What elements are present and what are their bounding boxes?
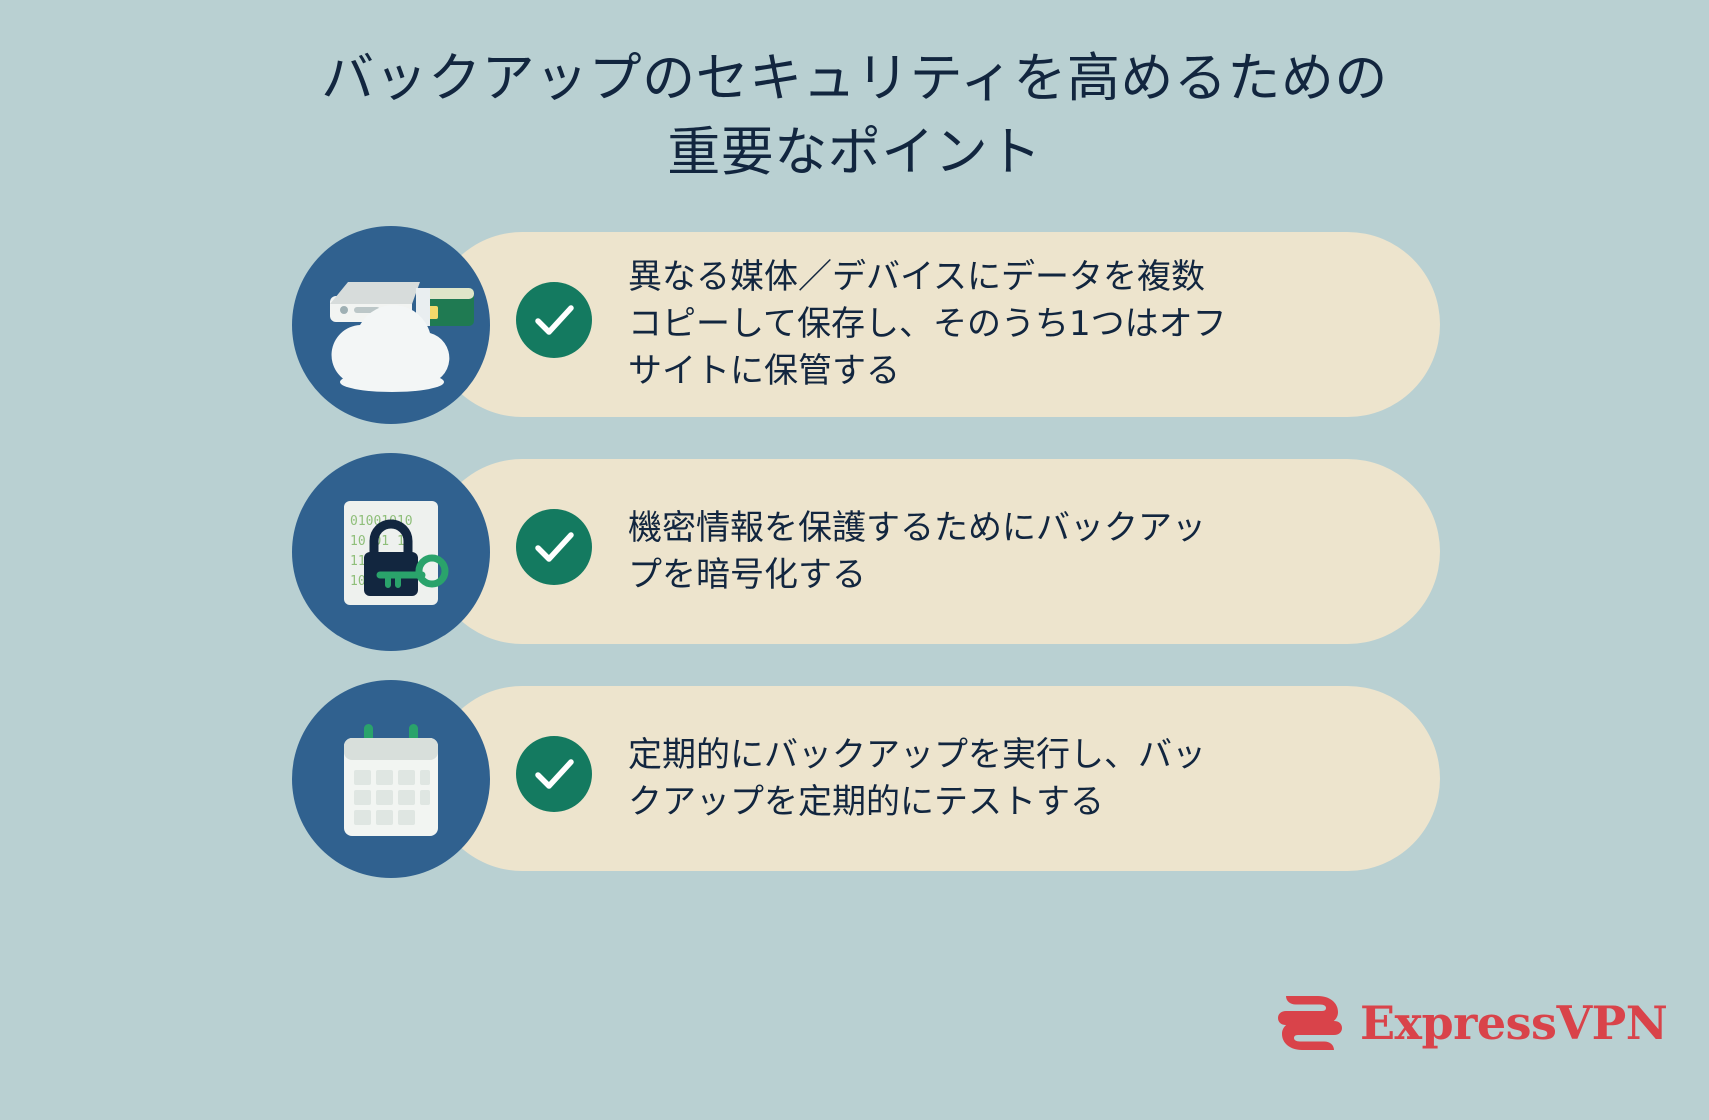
check-icon xyxy=(516,736,592,812)
tip-text-1-line-3: サイトに保管する xyxy=(628,348,1308,395)
encryption-lock-key-icon: 01001010 10 01 11 1101 010 10 10101 xyxy=(292,453,490,651)
check-icon xyxy=(516,282,592,358)
tip-text-1-line-2: コピーして保存し、そのうち1つはオフ xyxy=(628,301,1308,348)
tip-text-3-line-1: 定期的にバックアップを実行し、バッ xyxy=(628,732,1308,779)
tip-text-2-line-1: 機密情報を保護するためにバックアッ xyxy=(628,505,1308,552)
tip-text-1-line-1: 異なる媒体／デバイスにデータを複数 xyxy=(628,254,1308,301)
check-icon xyxy=(516,509,592,585)
tips-list: 異なる媒体／デバイスにデータを複数 コピーして保存し、そのうち1つはオフ サイト… xyxy=(0,232,1709,913)
list-item: 異なる媒体／デバイスにデータを複数 コピーして保存し、そのうち1つはオフ サイト… xyxy=(0,232,1709,417)
calendar-schedule-icon xyxy=(292,680,490,878)
infographic-page: バックアップのセキュリティを高めるための 重要なポイント xyxy=(0,0,1709,1120)
tip-text-1: 異なる媒体／デバイスにデータを複数 コピーして保存し、そのうち1つはオフ サイト… xyxy=(628,232,1308,417)
tip-text-3-line-2: クアップを定期的にテストする xyxy=(628,779,1308,826)
page-title-line-1: バックアップのセキュリティを高めるための xyxy=(0,42,1709,116)
page-title: バックアップのセキュリティを高めるための 重要なポイント xyxy=(0,42,1709,190)
expressvpn-mark-icon xyxy=(1278,992,1342,1054)
tip-text-3: 定期的にバックアップを実行し、バッ クアップを定期的にテストする xyxy=(628,686,1308,871)
tip-text-2-line-2: プを暗号化する xyxy=(628,552,1308,599)
list-item: 定期的にバックアップを実行し、バッ クアップを定期的にテストする xyxy=(0,686,1709,871)
expressvpn-wordmark: ExpressVPN xyxy=(1360,1000,1667,1046)
tip-text-2: 機密情報を保護するためにバックアッ プを暗号化する xyxy=(628,459,1308,644)
expressvpn-logo: ExpressVPN xyxy=(1278,992,1667,1054)
list-item: 01001010 10 01 11 1101 010 10 10101 xyxy=(0,459,1709,644)
backup-devices-cloud-icon xyxy=(292,226,490,424)
page-title-line-2: 重要なポイント xyxy=(0,116,1709,190)
